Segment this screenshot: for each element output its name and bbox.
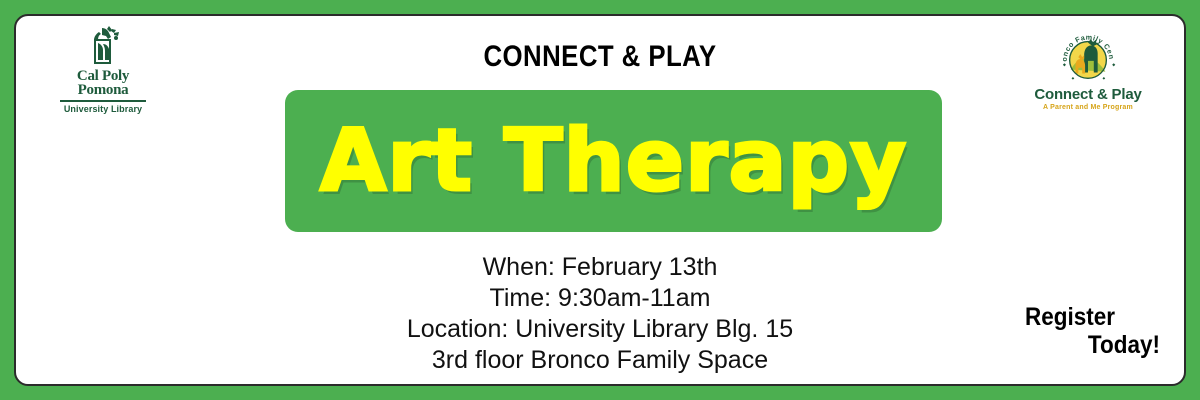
library-wordmark-line2: Pomona [50, 83, 156, 97]
library-logo-divider [60, 100, 146, 102]
event-flyer: Cal Poly Pomona University Library CONNE… [0, 0, 1200, 400]
program-eyebrow: CONNECT & PLAY [98, 40, 1102, 74]
connect-and-play-tagline: A Parent and Me Program [1020, 104, 1156, 111]
connect-and-play-logo: Bronco Family Center Connect & Play A Pa… [1020, 30, 1156, 111]
detail-line-when: When: February 13th [16, 252, 1184, 283]
register-cta-line2: Today! [1025, 333, 1160, 358]
flyer-inner-panel: Cal Poly Pomona University Library CONNE… [14, 14, 1186, 386]
detail-line-time: Time: 9:30am-11am [16, 283, 1184, 314]
library-subtitle: University Library [50, 104, 156, 114]
connect-and-play-title: Connect & Play [1020, 86, 1156, 103]
bronco-family-center-badge-icon: Bronco Family Center [1059, 30, 1117, 88]
detail-line-location: Location: University Library Blg. 15 [16, 314, 1184, 345]
register-today-cta[interactable]: Register Today! [1025, 305, 1160, 358]
register-cta-line1: Register [1025, 305, 1160, 330]
detail-line-room: 3rd floor Bronco Family Space [16, 345, 1184, 376]
event-title: Art Therapy [320, 118, 907, 204]
event-details: When: February 13th Time: 9:30am-11am Lo… [16, 252, 1184, 376]
title-banner: Art Therapy [285, 90, 942, 232]
